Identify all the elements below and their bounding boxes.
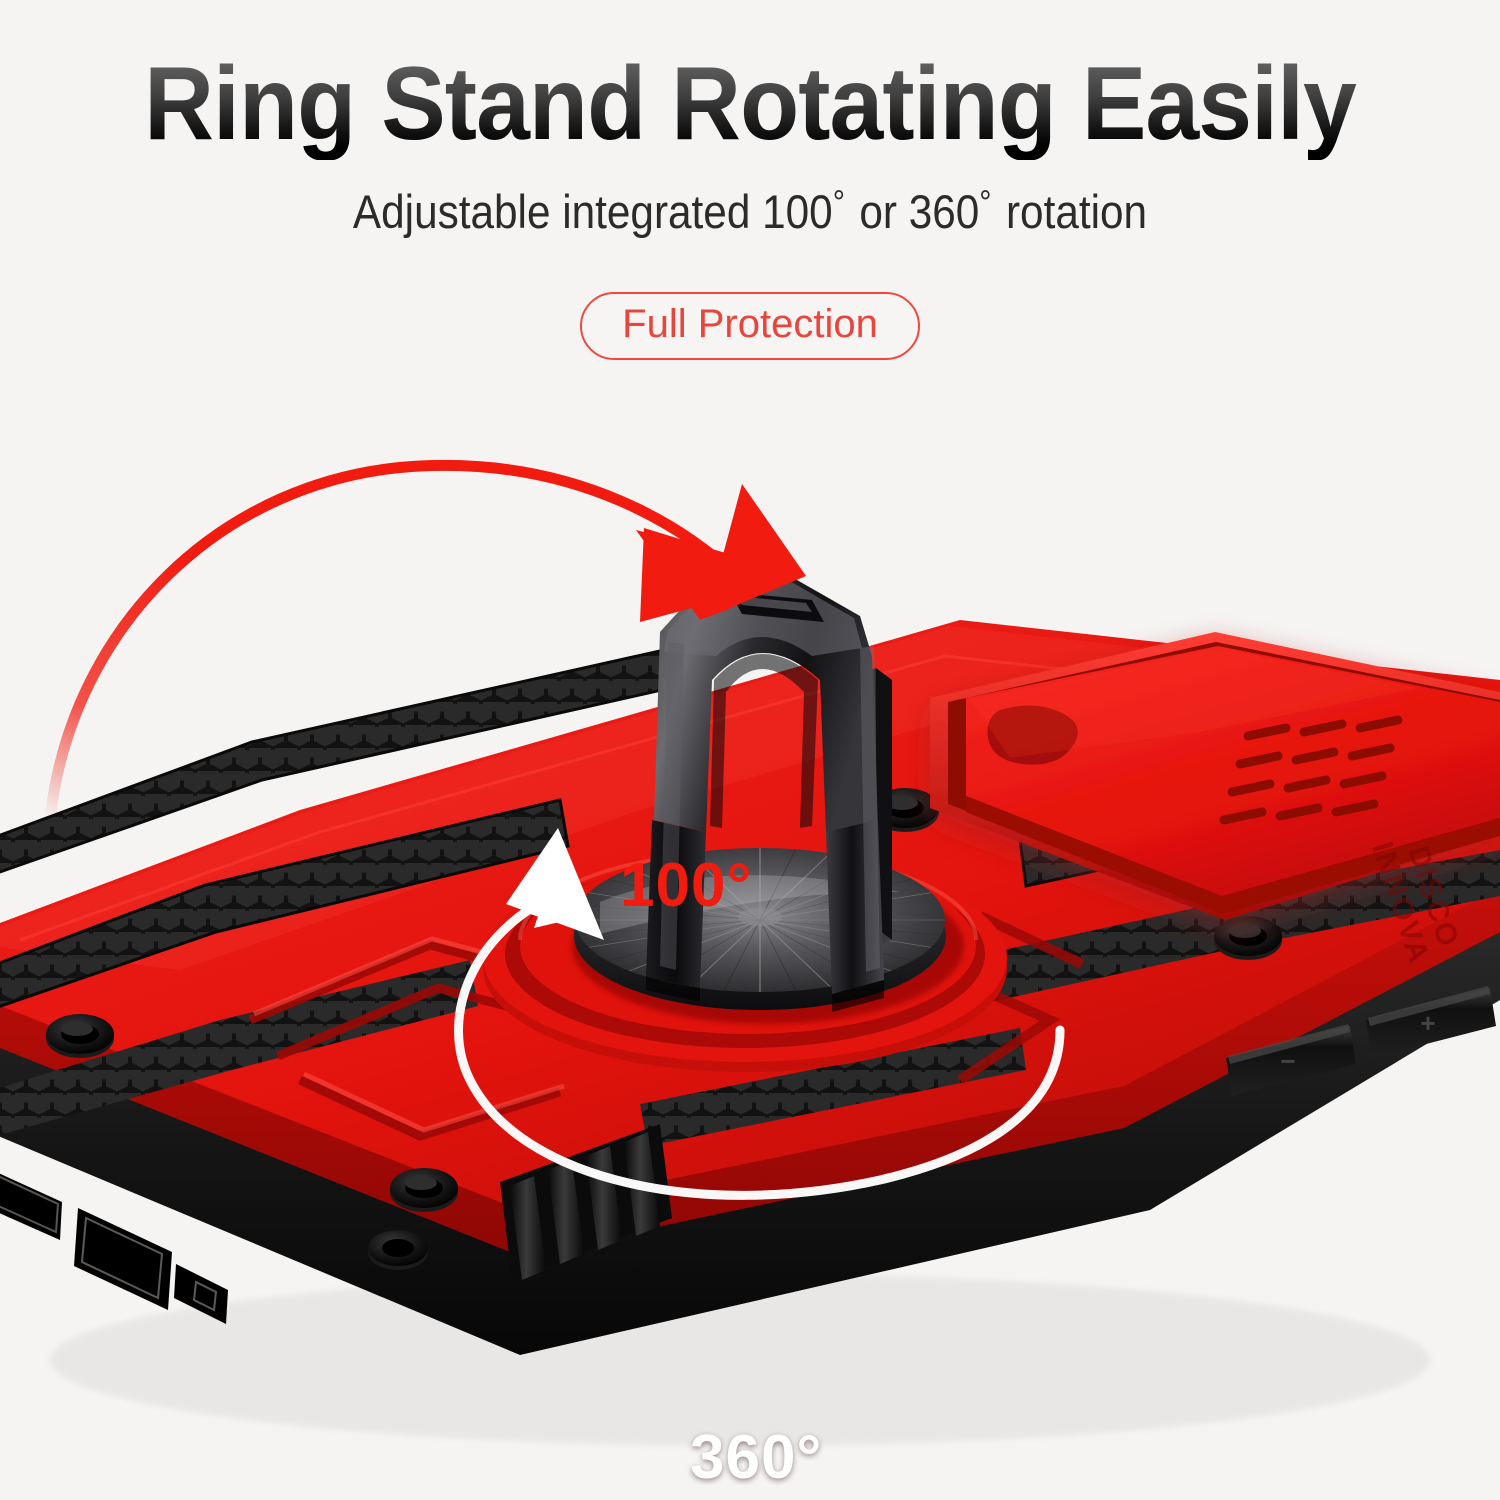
degree-symbol-1: ° <box>833 184 845 222</box>
phone-case-body: DISCO INNOVA − + <box>0 576 1500 1446</box>
subtitle-prefix: Adjustable integrated 100 <box>353 185 833 238</box>
charging-port-cutout <box>74 1208 172 1310</box>
speaker-cutout <box>0 1160 62 1240</box>
product-feature-image: Ring Stand Rotating Easily Adjustable in… <box>0 0 1500 1500</box>
screw-grommet <box>1214 916 1282 960</box>
badge-container: Full Protection <box>0 292 1500 360</box>
volume-down-label: − <box>1280 1046 1295 1076</box>
page-subtitle: Adjustable integrated 100°or 360°rotatio… <box>75 184 1425 239</box>
screw-grommet <box>46 1014 114 1058</box>
volume-up-label: + <box>1420 1008 1435 1038</box>
page-title: Ring Stand Rotating Easily <box>53 48 1448 160</box>
full-protection-badge: Full Protection <box>580 292 920 360</box>
subtitle-middle: or 360 <box>859 185 979 238</box>
angle-label-360: 360° <box>690 1422 822 1493</box>
screw-grommet <box>390 1168 458 1212</box>
subtitle-suffix: rotation <box>1006 185 1147 238</box>
product-illustration: DISCO INNOVA − + <box>0 380 1500 1500</box>
screw-grommet <box>368 1230 428 1270</box>
degree-symbol-2: ° <box>979 184 991 222</box>
angle-label-100: 100° <box>620 850 752 921</box>
